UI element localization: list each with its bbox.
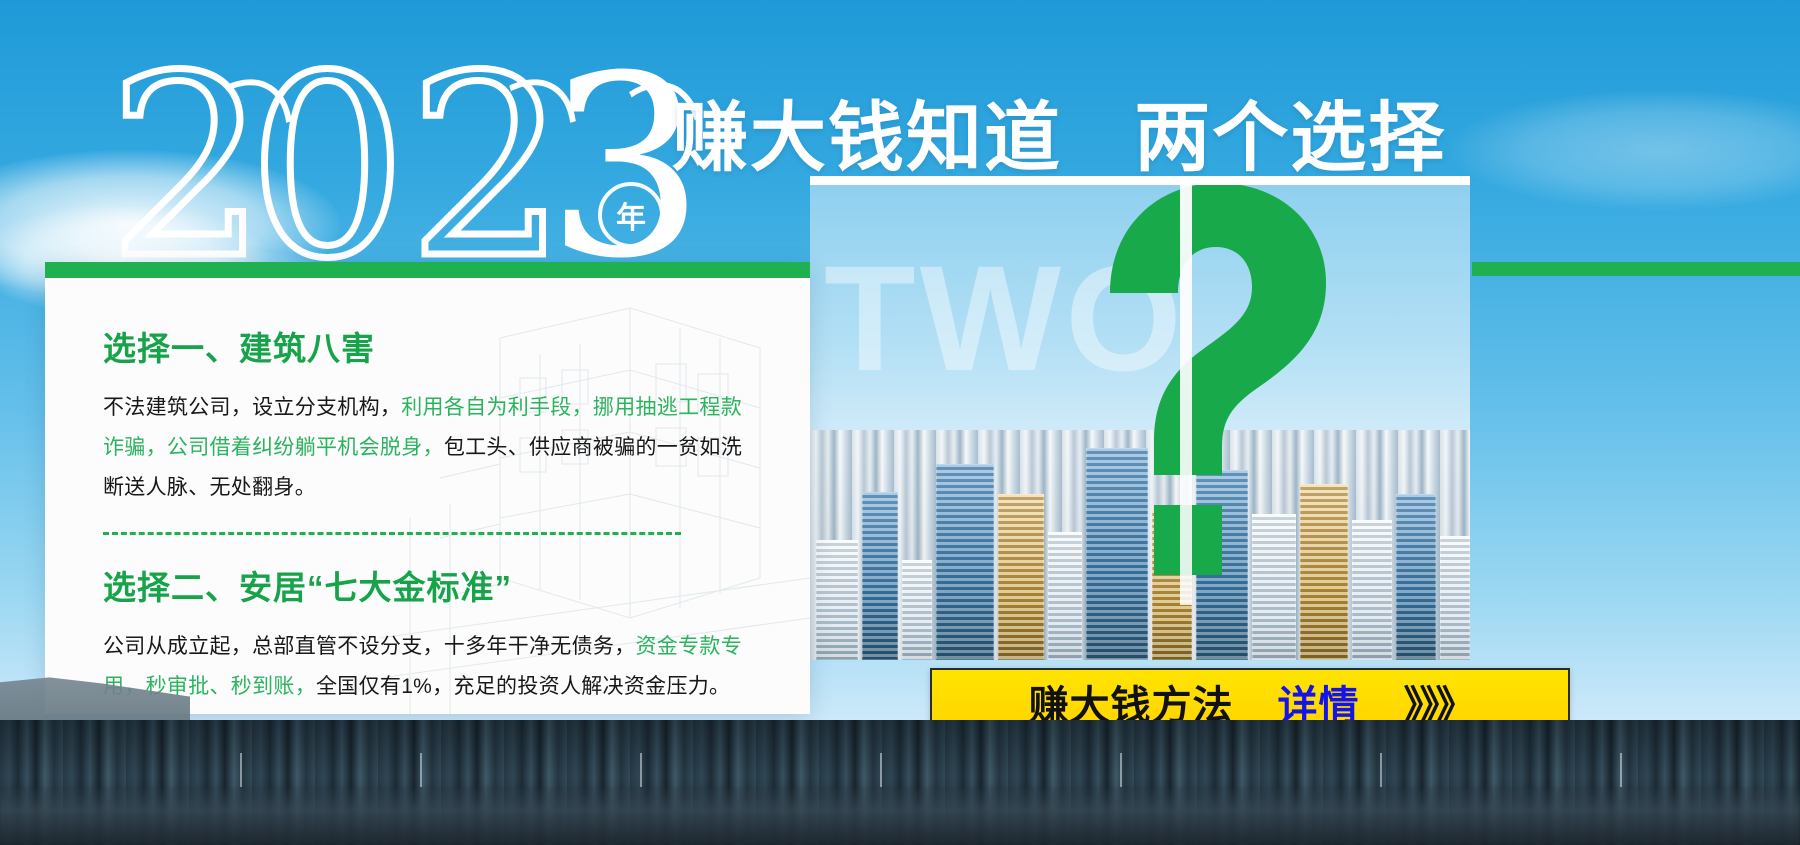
cloud-decoration bbox=[1450, 90, 1800, 210]
year-digit: 2 bbox=[108, 58, 261, 278]
section-title: 选择一、建筑八害 bbox=[103, 322, 758, 370]
illustration-panel: TWO CHOICES bbox=[810, 185, 1470, 660]
text-run: 不法建筑公司，设立分支机构， bbox=[103, 396, 401, 419]
card-accent-bar bbox=[45, 262, 810, 278]
accent-bar-top bbox=[1472, 262, 1800, 276]
choice-section-one: 选择一、建筑八害 不法建筑公司，设立分支机构，利用各自为利手段，挪用抽逃工程款诈… bbox=[103, 322, 758, 508]
arc-decoration bbox=[406, 56, 606, 289]
card-body: 选择一、建筑八害 不法建筑公司，设立分支机构，利用各自为利手段，挪用抽逃工程款诈… bbox=[45, 278, 810, 707]
year-suffix-badge: 年 bbox=[598, 182, 664, 248]
city-skyline-photo bbox=[810, 430, 1470, 660]
section-text: 公司从成立起，总部直管不设分支，十多年干净无债务，资金专款专用，秒审批、秒到账，… bbox=[103, 627, 758, 707]
year-digit: 2 bbox=[408, 58, 561, 278]
section-text: 不法建筑公司，设立分支机构，利用各自为利手段，挪用抽逃工程款诈骗，公司借着纠纷躺… bbox=[103, 388, 758, 508]
year-digit: 0 bbox=[248, 58, 401, 278]
year-suffix-label: 年 bbox=[616, 193, 646, 237]
headline-part-1: 赚大钱知道 bbox=[672, 96, 1062, 181]
content-card: 选择一、建筑八害 不法建筑公司，设立分支机构，利用各自为利手段，挪用抽逃工程款诈… bbox=[45, 262, 810, 714]
arc-decoration bbox=[122, 56, 322, 289]
text-run: 公司从成立起，总部直管不设分支，十多年干净无债务， bbox=[103, 635, 636, 658]
page-title: 赚大钱知道 两个选择 bbox=[672, 76, 1446, 186]
watermark-text-two: TWO bbox=[824, 243, 1470, 393]
waterfront-strip bbox=[0, 720, 1800, 845]
section-title: 选择二、安居“七大金标准” bbox=[103, 561, 758, 609]
promo-banner: 2 0 2 3 年 赚大钱知道 两个选择 TWO CHOICES bbox=[0, 0, 1800, 845]
choice-section-two: 选择二、安居“七大金标准” 公司从成立起，总部直管不设分支，十多年干净无债务，资… bbox=[103, 561, 758, 707]
water-reflection bbox=[0, 787, 1800, 845]
headline-underline bbox=[810, 176, 1470, 185]
section-divider bbox=[103, 532, 681, 535]
text-run: 全国仅有1%，充足的投资人解决资金压力。 bbox=[316, 675, 730, 698]
headline-part-2: 两个选择 bbox=[1134, 96, 1446, 181]
